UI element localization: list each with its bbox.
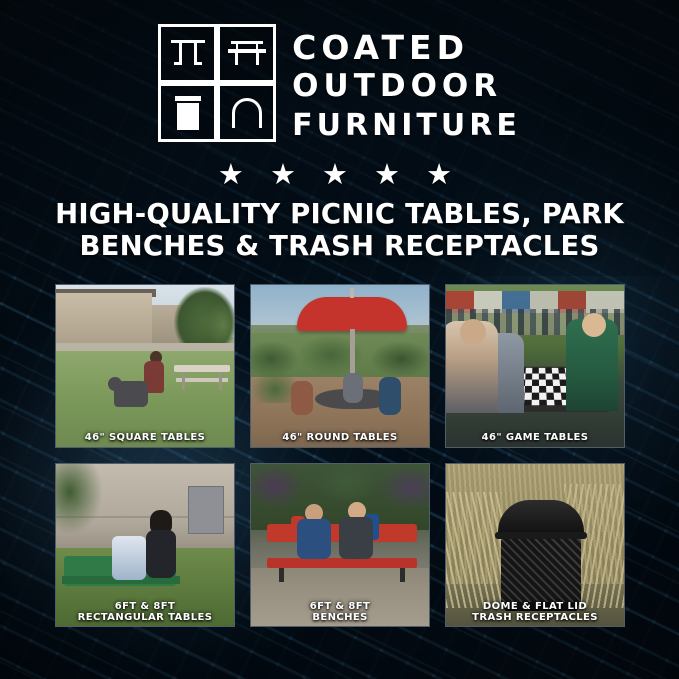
- bench-icon: [217, 24, 276, 83]
- gallery-caption: 6FT & 8FT BENCHES: [251, 598, 429, 626]
- brand-logo: COATED OUTDOOR FURNITURE: [0, 24, 679, 145]
- headline-line-1: HIGH-QUALITY PICNIC TABLES, PARK: [55, 198, 624, 230]
- gallery-caption-line2: BENCHES: [312, 612, 367, 623]
- gallery-caption: 6FT & 8FT RECTANGULAR TABLES: [56, 598, 234, 626]
- trash-can-icon: [158, 83, 217, 142]
- gallery-item-square-tables[interactable]: 46" SQUARE TABLES: [55, 284, 235, 448]
- gallery-caption: 46" SQUARE TABLES: [56, 429, 234, 448]
- gallery-caption: 46" GAME TABLES: [446, 429, 624, 448]
- headline-line-2: BENCHES & TRASH RECEPTACLES: [28, 230, 651, 262]
- star-rating: ★ ★ ★ ★ ★: [0, 160, 679, 190]
- brand-name-line1: COATED: [292, 28, 521, 67]
- gallery-caption-line1: 6FT & 8FT: [310, 601, 371, 612]
- gallery-caption: 46" ROUND TABLES: [251, 429, 429, 448]
- brand-name-line3: FURNITURE: [292, 106, 521, 145]
- gallery-item-round-tables[interactable]: 46" ROUND TABLES: [250, 284, 430, 448]
- gallery-caption-line1: DOME & FLAT LID: [483, 601, 587, 612]
- gallery-item-benches[interactable]: 6FT & 8FT BENCHES: [250, 463, 430, 627]
- photo-square-tables: [56, 285, 234, 447]
- product-gallery: 46" SQUARE TABLES 46" ROUND TABLES 46" G…: [55, 284, 625, 627]
- gallery-item-trash-receptacles[interactable]: DOME & FLAT LID TRASH RECEPTACLES: [445, 463, 625, 627]
- photo-round-tables: [251, 285, 429, 447]
- gallery-caption-line2: RECTANGULAR TABLES: [78, 612, 213, 623]
- gallery-caption-line2: TRASH RECEPTACLES: [472, 612, 598, 623]
- page-title: HIGH-QUALITY PICNIC TABLES, PARK BENCHES…: [0, 198, 679, 262]
- brand-name-line2: OUTDOOR: [292, 67, 521, 106]
- gallery-caption-line1: 6FT & 8FT: [115, 601, 176, 612]
- picnic-table-icon: [158, 24, 217, 83]
- logo-mark: [158, 24, 276, 142]
- gallery-item-game-tables[interactable]: 46" GAME TABLES: [445, 284, 625, 448]
- gallery-caption: DOME & FLAT LID TRASH RECEPTACLES: [446, 598, 624, 626]
- poster-content: COATED OUTDOOR FURNITURE ★ ★ ★ ★ ★ HIGH-…: [0, 0, 679, 679]
- brand-wordmark: COATED OUTDOOR FURNITURE: [292, 24, 521, 145]
- photo-game-tables: [446, 285, 624, 447]
- product-poster: COATED OUTDOOR FURNITURE ★ ★ ★ ★ ★ HIGH-…: [0, 0, 679, 679]
- dome-lid-icon: [217, 83, 276, 142]
- gallery-item-rectangular-tables[interactable]: 6FT & 8FT RECTANGULAR TABLES: [55, 463, 235, 627]
